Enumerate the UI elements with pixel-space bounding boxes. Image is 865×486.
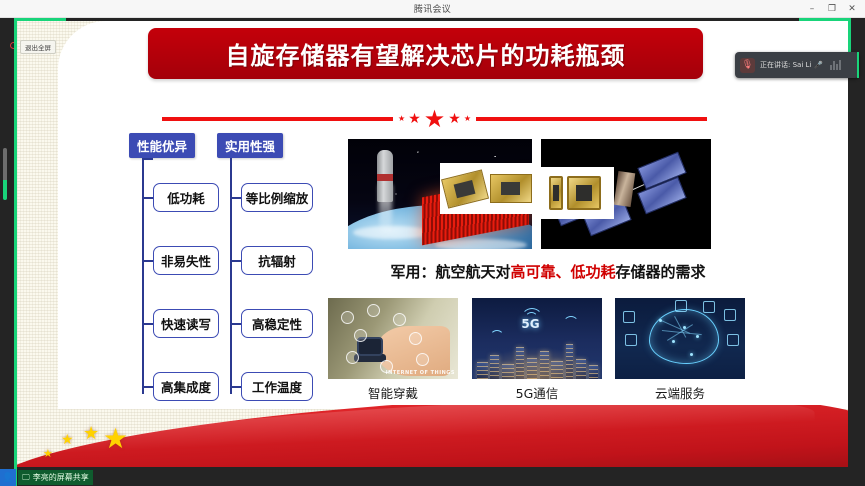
feature-node-low-power: 低功耗 <box>153 183 219 212</box>
military-line-prefix: 军用：航空航天对 <box>390 261 510 282</box>
share-border-left-mid <box>14 62 17 472</box>
presentation-slide: 自旋存储器有望解决芯片的功耗瓶颈 ★ ★ ★ ★ ★ 性能优异 <box>17 21 848 467</box>
star-icon-small-left: ★ <box>398 115 405 123</box>
caption-5g: 5G通信 <box>472 383 602 402</box>
active-speaker-tile[interactable]: 🎙 正在讲话: Sai Li 🎤 <box>735 52 859 78</box>
node-stub-q2 <box>230 260 241 262</box>
column-header-practicality-label: 实用性强 <box>225 136 275 155</box>
slide-title-banner: 自旋存储器有望解决芯片的功耗瓶颈 <box>148 28 703 79</box>
speaker-name-label: 正在讲话: Sai Li 🎤 <box>760 60 823 70</box>
flag-star-medium: ★ <box>83 425 99 443</box>
share-border-left-top <box>14 18 17 62</box>
speaker-tile-active-edge <box>857 52 859 78</box>
iot-overlay-text: INTERNET OF THINGS <box>386 370 455 376</box>
node-stub-p3b <box>142 323 153 325</box>
iot-node-icon-1 <box>341 311 354 324</box>
brain-node-2 <box>683 326 686 329</box>
window-controls: – ❐ ✕ <box>803 0 861 18</box>
window-titlebar: 腾讯会议 – ❐ ✕ <box>0 0 865 18</box>
iot-node-icon-4 <box>354 329 367 342</box>
node-stub-q4 <box>230 386 241 388</box>
feature-node-nonvolatile: 非易失性 <box>153 246 219 275</box>
city-light-glow <box>472 347 602 379</box>
feature-node-high-integration: 高集成度 <box>153 372 219 401</box>
share-status-label: 李亮的屏幕共享 <box>33 472 89 483</box>
star-icon-medium-right: ★ <box>448 112 461 126</box>
column-spine-performance <box>142 158 144 394</box>
gold-chip-partial <box>549 176 563 210</box>
column-header-practicality: 实用性强 <box>217 133 283 158</box>
feature-node-radiation-hard: 抗辐射 <box>241 246 313 275</box>
node-stub-q3 <box>230 323 241 325</box>
node-stub-p1 <box>142 197 153 199</box>
network-icon-6 <box>703 301 715 313</box>
feature-node-scaling: 等比例缩放 <box>241 183 313 212</box>
fiveg-label: 5G <box>521 317 539 331</box>
feature-node-high-stability: 高稳定性 <box>241 309 313 338</box>
gold-chip-2 <box>490 174 532 204</box>
audio-level-bars-icon <box>830 60 841 70</box>
military-demand-line: 军用：航空航天对高可靠、低功耗存储器的需求 <box>348 258 748 284</box>
brain-node-4 <box>696 335 699 338</box>
speaker-label-text: 正在讲话: Sai Li <box>760 60 811 70</box>
screen-icon: 🖵 <box>22 473 30 483</box>
star-icon-large: ★ <box>424 107 446 131</box>
feature-columns: 性能优异 低功耗 非易失性 快速读写 高集成度 实用性强 <box>129 133 329 418</box>
feature-node-fast-rw: 快速读写 <box>153 309 219 338</box>
node-stub-p3 <box>142 158 153 160</box>
satellite-chip-inset <box>541 167 614 220</box>
share-border-top-right <box>799 18 851 21</box>
feature-node-operating-temp: 工作温度 <box>241 372 313 401</box>
column-header-performance: 性能优异 <box>129 133 195 158</box>
brain-outline <box>649 309 719 364</box>
iot-node-icon-3 <box>393 313 406 326</box>
gold-chip-main <box>567 176 601 210</box>
star-icon-small-right: ★ <box>464 115 471 123</box>
flag-decoration: ★ ★ ★ ★ <box>17 405 848 467</box>
satellite-photo <box>541 139 711 249</box>
network-icon-3 <box>724 309 736 321</box>
column-spine-practicality <box>230 158 232 394</box>
tencent-meeting-window: 腾讯会议 – ❐ ✕ 自旋存储器有望解决芯片的功耗瓶颈 ★ ★ ★ ★ <box>0 0 865 486</box>
participant-icon: 👤 <box>0 469 16 486</box>
military-line-suffix: 存储器的需求 <box>616 261 706 282</box>
divider-line-right <box>476 117 707 121</box>
iot-smartwatch-photo: INTERNET OF THINGS <box>328 298 458 379</box>
flag-star-small: ★ <box>61 433 74 447</box>
rocket-red-band <box>377 174 393 181</box>
node-stub-p4 <box>142 386 153 388</box>
microphone-icon: 🎤 <box>814 61 823 69</box>
wifi-signal-icon-right <box>563 316 579 332</box>
minimize-button[interactable]: – <box>803 1 821 17</box>
speaker-avatar: 🎙 <box>740 58 755 73</box>
network-icon-5 <box>675 300 687 312</box>
military-line-highlight: 高可靠、低功耗 <box>510 261 615 282</box>
photo-captions: 智能穿戴 5G通信 云端服务 <box>328 383 745 403</box>
feature-column-performance: 性能优异 低功耗 非易失性 快速读写 高集成度 <box>129 133 221 158</box>
fiveg-city-photo: 5G <box>472 298 602 379</box>
share-border-top-left <box>14 18 66 21</box>
star-divider: ★ ★ ★ ★ ★ <box>162 108 707 130</box>
network-icon-1 <box>623 311 635 323</box>
share-status-pill[interactable]: 🖵 李亮的屏幕共享 <box>18 470 93 485</box>
earth-cloud-1 <box>353 226 431 240</box>
cloud-brain-network-photo <box>615 298 745 379</box>
slide-title: 自旋存储器有望解决芯片的功耗瓶颈 <box>226 36 626 71</box>
node-stub-p2 <box>142 260 153 262</box>
rocket-earth-chip-photo <box>348 139 532 249</box>
earth-cloud-2 <box>435 239 526 249</box>
column-header-performance-label: 性能优异 <box>137 136 187 155</box>
screen-share-indicator[interactable]: 👤 🖵 李亮的屏幕共享 <box>0 469 93 486</box>
close-button[interactable]: ✕ <box>843 1 861 17</box>
divider-stars: ★ ★ ★ ★ ★ <box>393 107 476 131</box>
exit-fullscreen-label: 退出全屏 <box>25 42 51 52</box>
node-stub-q1 <box>230 197 241 199</box>
volume-slider-tick[interactable] <box>3 148 7 200</box>
maximize-button[interactable]: ❐ <box>823 1 841 17</box>
network-icon-4 <box>727 334 739 346</box>
divider-line-left <box>162 117 393 121</box>
network-icon-2 <box>625 334 637 346</box>
star-icon-medium-left: ★ <box>408 112 421 126</box>
gold-chip-1 <box>441 169 489 208</box>
caption-cloud: 云端服务 <box>615 383 745 402</box>
flag-star-tiny: ★ <box>43 448 53 459</box>
exit-fullscreen-button[interactable]: 退出全屏 <box>20 40 56 54</box>
window-title: 腾讯会议 <box>414 2 451 15</box>
feature-column-practicality: 实用性强 等比例缩放 抗辐射 高稳定性 工作温度 <box>217 133 309 158</box>
flag-star-large: ★ <box>103 425 128 453</box>
caption-wearables: 智能穿戴 <box>328 383 458 402</box>
iot-node-icon-5 <box>409 332 422 345</box>
gold-chip-inset <box>440 163 532 214</box>
